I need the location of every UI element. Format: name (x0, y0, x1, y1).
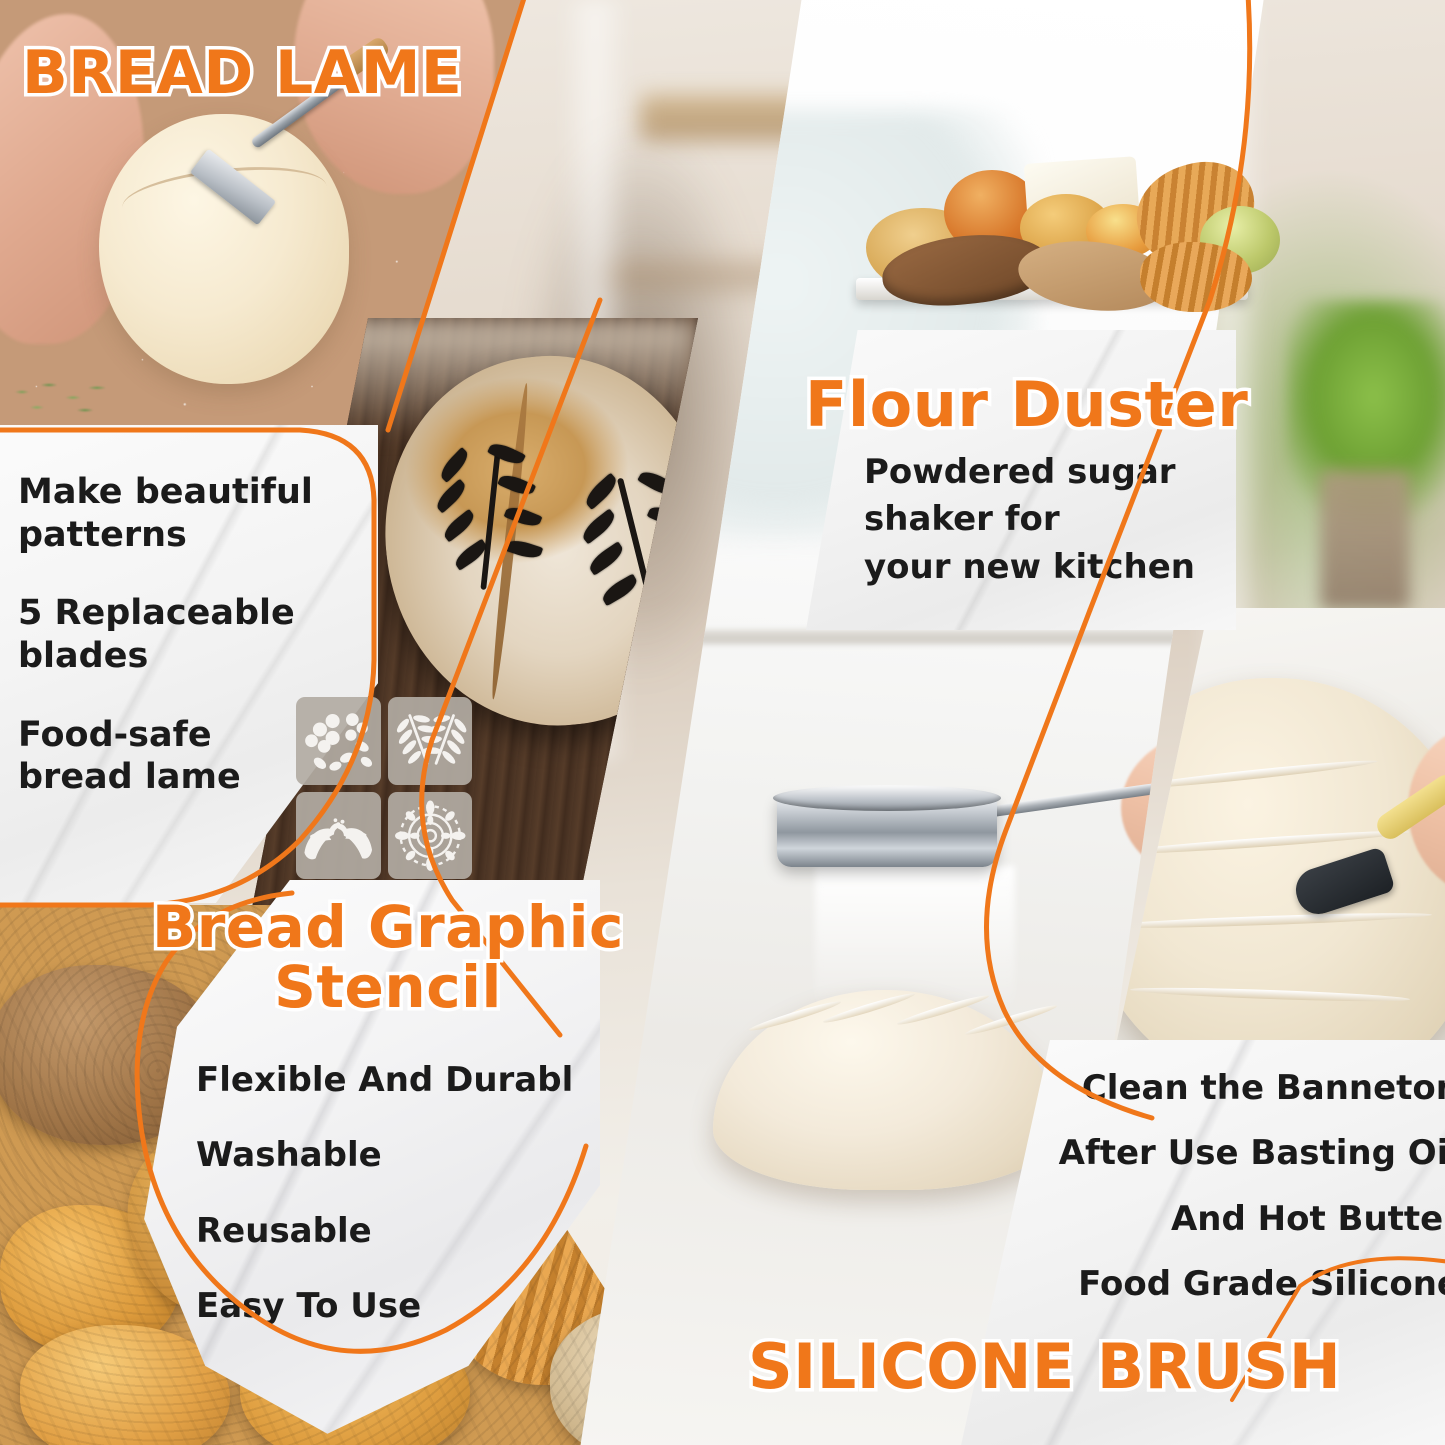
bread-tray-photo (848, 150, 1248, 325)
silicone-brush-feature-list: Clean the Banneton After Use Basting Oil… (990, 1068, 1445, 1330)
flour-duster-feature-list: Powdered sugar shaker for your new kitch… (864, 452, 1224, 594)
feature-text: your new kitchen (864, 547, 1224, 588)
background-plant-pot (1320, 470, 1410, 610)
product-infographic: Make beautiful patterns 5 Replaceable bl… (0, 0, 1445, 1445)
feature-text: shaker for (864, 499, 1224, 540)
rosemary-sprig (0, 364, 148, 434)
mandala-stencil-icon (388, 792, 473, 880)
feature-text: And Hot Butter (990, 1199, 1445, 1240)
feature-text: Food Grade Silicone (990, 1264, 1445, 1305)
feature-text: 5 Replaceable blades (18, 592, 348, 677)
flour-duster-heading: Flour Duster (805, 368, 1248, 441)
stencil-heading: Bread Graphic Stencil (152, 898, 624, 1017)
feature-text: After Use Basting Oil (990, 1133, 1445, 1174)
feature-text: Powdered sugar (864, 452, 1224, 493)
dough-ball (99, 114, 349, 384)
feature-text: Clean the Banneton (990, 1068, 1445, 1109)
wheat-leaf-stencil-icon (388, 697, 473, 785)
falling-flour (815, 866, 1015, 1011)
dove-stencil-icon (296, 792, 381, 880)
stencil-thumbnail-grid (296, 697, 472, 879)
croissant-2 (1140, 242, 1252, 312)
feature-text: Washable (196, 1135, 586, 1176)
silicone-brush-heading: SILICONE BRUSH (748, 1330, 1341, 1403)
flower-stencil-icon (296, 697, 381, 785)
bread-lame-heading: BREAD LAME (22, 38, 462, 108)
flour-duster-pan (777, 795, 997, 867)
feature-text: Flexible And Durabl (196, 1060, 586, 1101)
feature-text: Reusable (196, 1211, 586, 1252)
feature-text: Make beautiful patterns (18, 471, 348, 556)
